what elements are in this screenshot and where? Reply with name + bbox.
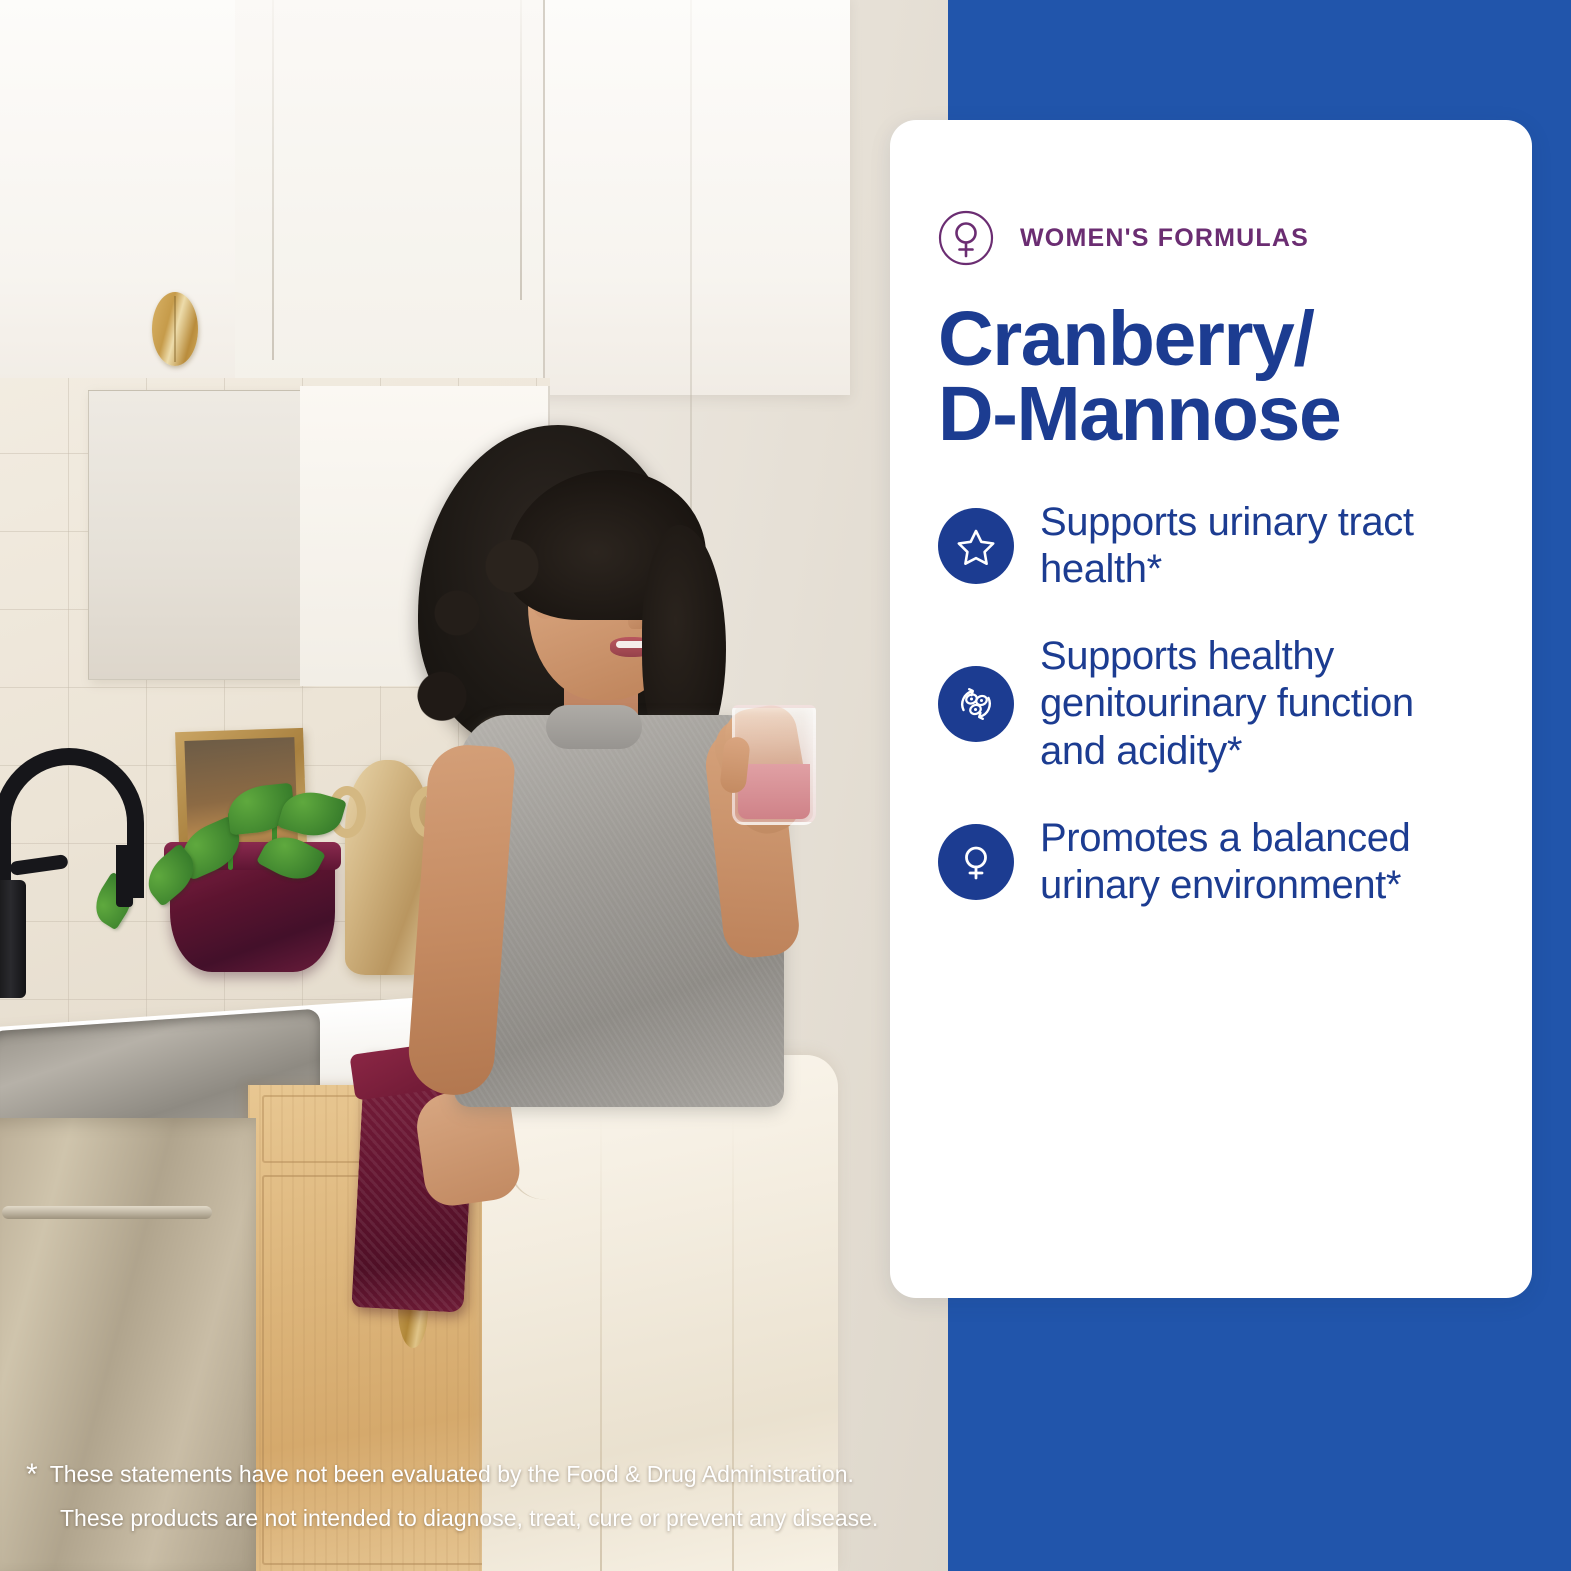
- benefits-list: Supports urinary tract health* Supports …: [938, 499, 1472, 909]
- dishwasher-handle: [2, 1206, 212, 1219]
- mock-neck-collar: [546, 705, 642, 749]
- faucet-base: [0, 880, 26, 998]
- cabinet-seam: [272, 0, 274, 360]
- benefit-item: Promotes a balanced urinary environment*: [938, 815, 1472, 909]
- cabinet-seam: [520, 0, 522, 300]
- benefit-text: Supports healthy genitourinary function …: [1040, 633, 1472, 775]
- disclaimer-line-1: These statements have not been evaluated…: [50, 1461, 854, 1487]
- upper-cabinet-panel: [235, 0, 545, 385]
- wall-cabinet-box: [88, 390, 308, 680]
- product-title-line-1: Cranberry/: [938, 296, 1313, 382]
- faucet-spout: [116, 845, 133, 907]
- cycle-cells-icon: [938, 666, 1014, 742]
- disclaimer-line-2: These products are not intended to diagn…: [60, 1500, 926, 1537]
- product-title-line-2: D-Mannose: [938, 371, 1340, 457]
- category-label: WOMEN'S FORMULAS: [1020, 224, 1309, 253]
- benefit-text: Supports urinary tract health*: [1040, 499, 1472, 593]
- fda-disclaimer: *These statements have not been evaluate…: [26, 1451, 926, 1537]
- product-title: Cranberry/ D-Mannose: [938, 302, 1472, 453]
- benefit-item: Supports healthy genitourinary function …: [938, 633, 1472, 775]
- woman-figure: [396, 415, 916, 1571]
- brass-cabinet-handle: [152, 292, 198, 366]
- star-outline-icon: [938, 508, 1014, 584]
- disclaimer-asterisk: *: [26, 1458, 38, 1491]
- product-info-card: WOMEN'S FORMULAS Cranberry/ D-Mannose Su…: [890, 120, 1532, 1298]
- benefit-item: Supports urinary tract health*: [938, 499, 1472, 593]
- glass-liquid: [738, 764, 810, 819]
- benefit-text: Promotes a balanced urinary environment*: [1040, 815, 1472, 909]
- venus-symbol-outline-icon: [938, 210, 994, 266]
- lifestyle-photo: *These statements have not been evaluate…: [0, 0, 948, 1571]
- category-eyebrow: WOMEN'S FORMULAS: [938, 210, 1472, 266]
- venus-symbol-icon: [938, 824, 1014, 900]
